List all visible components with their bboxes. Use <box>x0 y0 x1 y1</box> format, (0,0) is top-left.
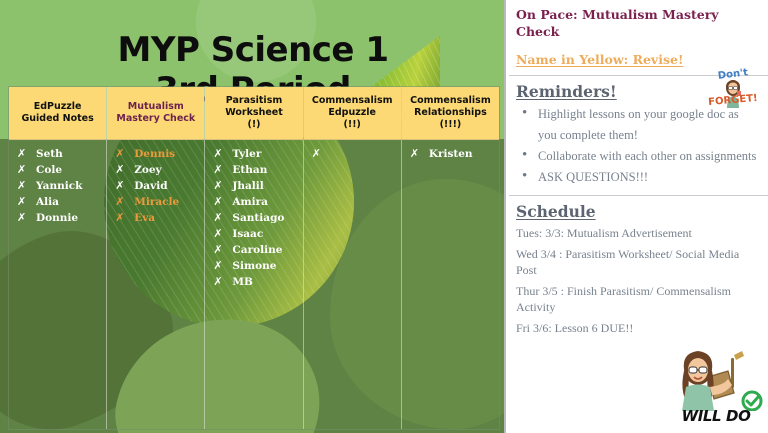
bitmoji-teacher-icon <box>668 349 764 411</box>
student-row[interactable]: ✗MB <box>213 274 298 290</box>
student-row[interactable]: ✗Miracle <box>115 194 200 210</box>
student-row[interactable]: ✗Tyler <box>213 146 298 162</box>
column-header-label: Mutualism Mastery Check <box>116 101 195 125</box>
check-x-icon: ✗ <box>17 194 26 209</box>
student-row[interactable]: ✗Isaac <box>213 226 298 242</box>
schedule-item: Fri 3/6: Lesson 6 DUE!! <box>516 320 758 336</box>
student-row[interactable]: ✗Caroline <box>213 242 298 258</box>
student-name: Yannick <box>36 179 82 194</box>
schedule-item: Tues: 3/3: Mutualism Advertisement <box>516 225 758 241</box>
reminder-item: Collaborate with each other on assignmen… <box>516 146 758 167</box>
student-name: Alia <box>36 195 59 210</box>
revise-note: Name in Yellow: Revise! <box>516 52 758 68</box>
table-column: Commensalism Edpuzzle (!!)✗ <box>304 87 402 429</box>
student-name: Isaac <box>232 227 263 242</box>
student-row[interactable]: ✗Donnie <box>17 210 102 226</box>
column-header[interactable]: Commensalism Relationships (!!!) <box>402 87 499 140</box>
student-name: Eva <box>134 211 155 226</box>
schedule-item: Thur 3/5 : Finish Parasitism/ Commensali… <box>516 283 758 315</box>
slide-view: MYP Science 1 3rd Period EdPuzzle Guided… <box>0 0 768 433</box>
dont-forget-sticker: Don't FORGET! <box>704 70 762 120</box>
check-x-icon: ✗ <box>213 258 222 273</box>
student-row[interactable]: ✗Cole <box>17 162 102 178</box>
table-column: Mutualism Mastery Check✗Dennis✗Zoey✗Davi… <box>107 87 205 429</box>
check-x-icon: ✗ <box>213 194 222 209</box>
column-header-label: Commensalism Relationships (!!!) <box>410 95 491 131</box>
check-x-icon: ✗ <box>213 226 222 241</box>
column-names: ✗Seth✗Cole✗Yannick✗Alia✗Donnie <box>9 140 106 429</box>
student-row[interactable]: ✗Zoey <box>115 162 200 178</box>
student-name: Cole <box>36 163 62 178</box>
column-header-label: Commensalism Edpuzzle (!!) <box>312 95 393 131</box>
student-name: Jhalil <box>232 179 263 194</box>
schedule-list: Tues: 3/3: Mutualism AdvertisementWed 3/… <box>516 225 758 336</box>
check-x-icon: ✗ <box>17 146 26 161</box>
slide-canvas: MYP Science 1 3rd Period EdPuzzle Guided… <box>0 0 506 433</box>
check-x-icon: ✗ <box>115 146 124 161</box>
student-row[interactable]: ✗Santiago <box>213 210 298 226</box>
table-column: Parasitism Worksheet (!)✗Tyler✗Ethan✗Jha… <box>205 87 303 429</box>
student-name: Dennis <box>134 147 175 162</box>
check-x-icon: ✗ <box>17 178 26 193</box>
column-header[interactable]: Mutualism Mastery Check <box>107 87 204 140</box>
column-header[interactable]: EdPuzzle Guided Notes <box>9 87 106 140</box>
table-column: Commensalism Relationships (!!!)✗Kristen <box>402 87 499 429</box>
student-name: Santiago <box>232 211 284 226</box>
student-row[interactable]: ✗Yannick <box>17 178 102 194</box>
student-row[interactable]: ✗Dennis <box>115 146 200 162</box>
column-names: ✗Dennis✗Zoey✗David✗Miracle✗Eva <box>107 140 204 429</box>
student-name: MB <box>232 275 253 290</box>
student-name: Kristen <box>429 147 473 162</box>
column-names: ✗Kristen <box>402 140 499 429</box>
check-x-icon: ✗ <box>115 210 124 225</box>
check-x-icon: ✗ <box>115 162 124 177</box>
reminder-item: ASK QUESTIONS!!! <box>516 167 758 188</box>
check-x-icon: ✗ <box>410 146 419 161</box>
notes-sidebar: On Pace: Mutualism Mastery Check Name in… <box>506 0 768 433</box>
title-line-1: MYP Science 1 <box>118 30 389 70</box>
schedule-heading: Schedule <box>516 202 758 222</box>
check-x-icon: ✗ <box>213 242 222 257</box>
check-x-icon: ✗ <box>213 178 222 193</box>
progress-table: EdPuzzle Guided Notes✗Seth✗Cole✗Yannick✗… <box>8 86 500 430</box>
divider-schedule <box>506 195 768 196</box>
student-row[interactable]: ✗ <box>312 146 397 161</box>
column-header-label: EdPuzzle Guided Notes <box>21 101 93 125</box>
check-x-icon: ✗ <box>213 146 222 161</box>
student-row[interactable]: ✗Amira <box>213 194 298 210</box>
column-header[interactable]: Commensalism Edpuzzle (!!) <box>304 87 401 140</box>
student-name: Caroline <box>232 243 282 258</box>
column-header-label: Parasitism Worksheet (!) <box>225 95 283 131</box>
student-row[interactable]: ✗Alia <box>17 194 102 210</box>
column-names: ✗ <box>304 140 401 429</box>
column-names: ✗Tyler✗Ethan✗Jhalil✗Amira✗Santiago✗Isaac… <box>205 140 302 429</box>
student-row[interactable]: ✗Kristen <box>410 146 495 162</box>
check-x-icon: ✗ <box>213 274 222 289</box>
student-row[interactable]: ✗David <box>115 178 200 194</box>
student-name: Miracle <box>134 195 179 210</box>
student-row[interactable]: ✗Simone <box>213 258 298 274</box>
student-row[interactable]: ✗Seth <box>17 146 102 162</box>
student-name: Donnie <box>36 211 78 226</box>
student-name: Tyler <box>232 147 261 162</box>
on-pace-status: On Pace: Mutualism Mastery Check <box>516 6 758 40</box>
will-do-text: WILL DO <box>668 407 764 425</box>
check-x-icon: ✗ <box>115 194 124 209</box>
student-name: Seth <box>36 147 63 162</box>
check-x-icon: ✗ <box>213 162 222 177</box>
student-row[interactable]: ✗Jhalil <box>213 178 298 194</box>
check-x-icon: ✗ <box>17 210 26 225</box>
schedule-item: Wed 3/4 : Parasitism Worksheet/ Social M… <box>516 246 758 278</box>
table-column: EdPuzzle Guided Notes✗Seth✗Cole✗Yannick✗… <box>9 87 107 429</box>
student-name: Ethan <box>232 163 267 178</box>
column-header[interactable]: Parasitism Worksheet (!) <box>205 87 302 140</box>
check-x-icon: ✗ <box>115 178 124 193</box>
student-name: Zoey <box>134 163 161 178</box>
check-x-icon: ✗ <box>213 210 222 225</box>
student-name: David <box>134 179 167 194</box>
check-x-icon: ✗ <box>312 146 321 161</box>
student-row[interactable]: ✗Ethan <box>213 162 298 178</box>
student-name: Simone <box>232 259 276 274</box>
student-row[interactable]: ✗Eva <box>115 210 200 226</box>
will-do-sticker: WILL DO <box>668 349 764 425</box>
check-x-icon: ✗ <box>17 162 26 177</box>
student-name: Amira <box>232 195 268 210</box>
